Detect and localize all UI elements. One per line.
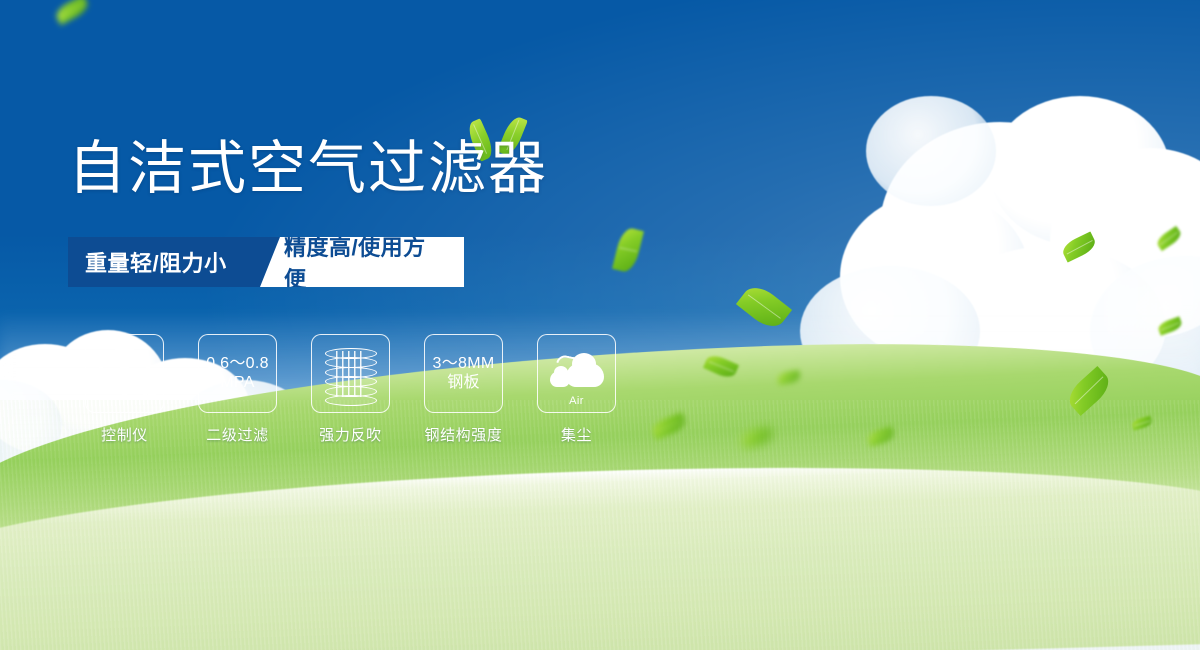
- feature-item-backblow[interactable]: 强力反吹: [294, 334, 407, 445]
- gauge-tick-dot: [99, 370, 103, 374]
- cloud-large-bump: [572, 353, 596, 375]
- steel-thickness-line2: 钢板: [447, 374, 480, 393]
- pressure-range-line2: MPA: [220, 374, 254, 393]
- filter-disc: [325, 395, 377, 406]
- tagline-left: 重量轻/阻力小: [68, 237, 280, 287]
- tagline-right: 精度高/使用方便: [260, 237, 464, 287]
- feature-item-pressure[interactable]: 0.6～0.8 MPA 二级过滤: [181, 334, 294, 445]
- gauge-tick-dot: [99, 373, 103, 377]
- feature-caption: 二级过滤: [206, 424, 268, 445]
- cloud-air-label: Air: [548, 395, 606, 407]
- filter-disc-stack-icon: [311, 334, 390, 413]
- pressure-range-line1: 0.6～0.8: [206, 355, 269, 374]
- tagline-bar: 重量轻/阻力小 精度高/使用方便: [68, 237, 464, 287]
- feature-caption: 钢结构强度: [424, 424, 502, 445]
- gauge-label-off: OFF: [142, 393, 156, 400]
- gauge-needle: [120, 353, 129, 395]
- product-hero-banner: 自洁式空气过滤器 重量轻/阻力小 精度高/使用方便 NO OFF 控制仪 0.6…: [0, 0, 1200, 650]
- feature-caption: 集尘: [561, 424, 592, 445]
- cloud-air-icon: Air: [537, 334, 616, 413]
- feature-caption: 强力反吹: [319, 424, 381, 445]
- gauge-dial-icon: NO OFF: [85, 334, 164, 413]
- feature-item-controller[interactable]: NO OFF 控制仪: [68, 334, 181, 445]
- page-title: 自洁式空气过滤器: [68, 140, 548, 198]
- steel-plate-text-icon: 3～8MM 钢板: [424, 334, 503, 413]
- pressure-text-icon: 0.6～0.8 MPA: [198, 334, 277, 413]
- steel-thickness-line1: 3～8MM: [433, 355, 495, 374]
- gauge-tick-dot: [99, 376, 103, 380]
- feature-item-steel[interactable]: 3～8MM 钢板 钢结构强度: [407, 334, 520, 445]
- feature-caption: 控制仪: [101, 424, 148, 445]
- feature-list: NO OFF 控制仪 0.6～0.8 MPA 二级过滤 强力反吹: [68, 334, 633, 445]
- feature-item-dustcollect[interactable]: Air 集尘: [520, 334, 633, 445]
- gauge-tick-dot: [146, 376, 150, 380]
